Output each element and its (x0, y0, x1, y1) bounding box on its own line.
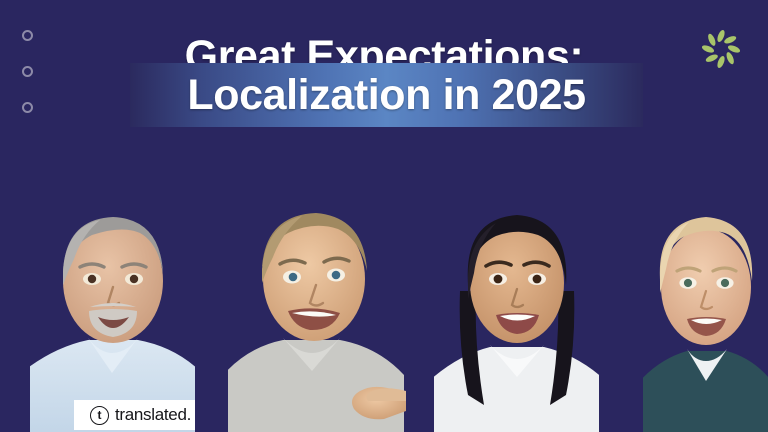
webinar-title-card: Great Expectations: Localization in 2025 (0, 0, 768, 432)
speaker-photo-motorola: MOTOROLA SOLUTIONS (434, 195, 599, 432)
speaker-photo-translated: t translated. (30, 195, 195, 432)
speaker-photo-nimdzi: Nimdzi (228, 195, 406, 432)
decorative-circle-icon (22, 102, 33, 113)
speaker-photo-phrase: Phrase smart. simpler. whole. together. (643, 195, 768, 432)
speaker-photo-strip: t translated. (0, 195, 768, 432)
circled-t-mark: t (90, 406, 109, 425)
translated-logo: t translated. (74, 400, 195, 430)
translated-logo-text: translated. (115, 405, 191, 425)
title-line-2: Localization in 2025 (130, 63, 643, 127)
